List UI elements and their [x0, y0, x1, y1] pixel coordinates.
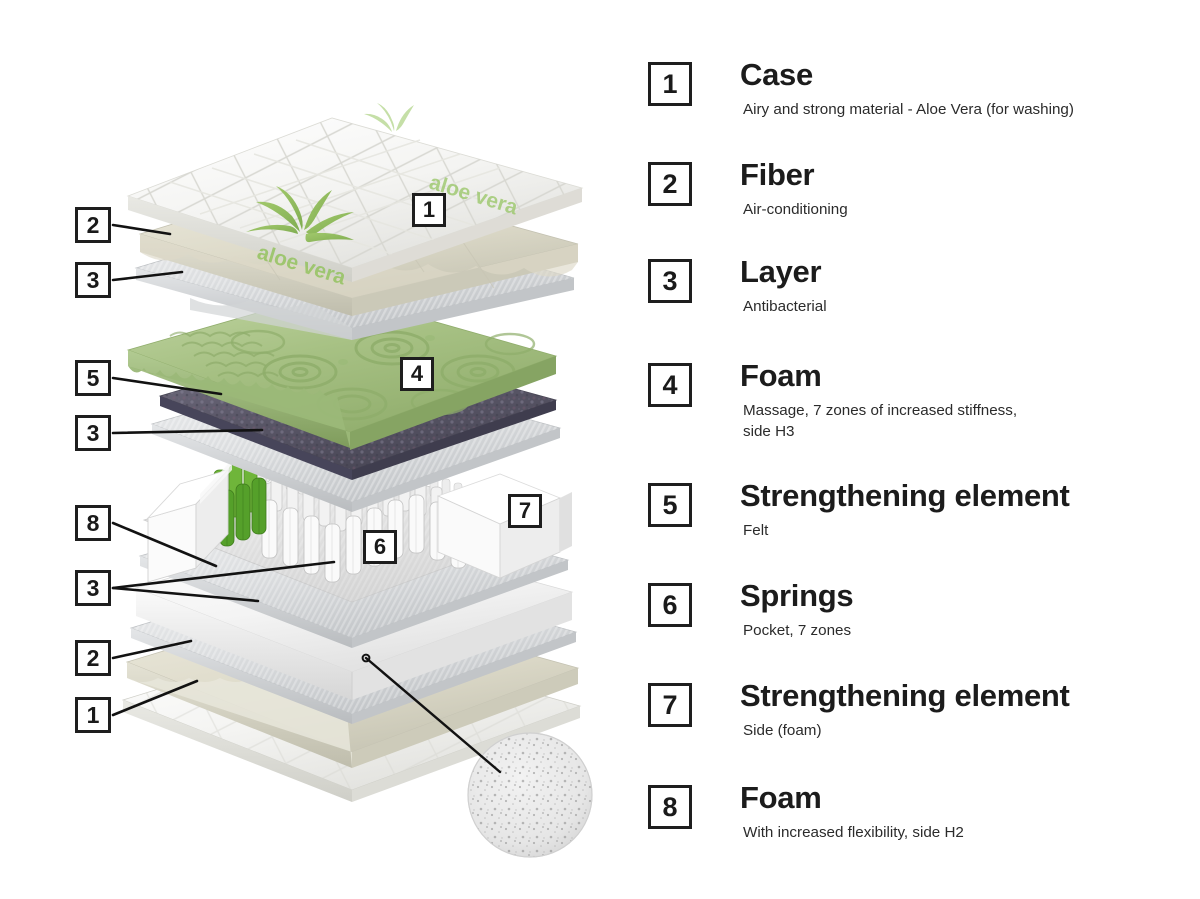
legend-subtitle-6: Pocket, 7 zones [740, 621, 1200, 642]
legend-title-1: Case [740, 58, 1200, 91]
legend-text-6: Springs Pocket, 7 zones [740, 579, 1200, 642]
legend-badge-5: 5 [648, 483, 692, 527]
legend-text-4: Foam Massage, 7 zones of increased stiff… [740, 359, 1200, 443]
callout-badge-8-foam[interactable]: 8 [75, 505, 111, 541]
legend-text-5: Strengthening element Felt [740, 479, 1200, 542]
figure-badge-6-springs[interactable]: 6 [363, 530, 397, 564]
legend-title-4: Foam [740, 359, 1200, 392]
legend-title-3: Layer [740, 255, 1200, 288]
layers-legend: 1 Case Airy and strong material - Aloe V… [648, 0, 1200, 899]
legend-badge-6: 6 [648, 583, 692, 627]
callout-badge-2-fiber-bottom[interactable]: 2 [75, 640, 111, 676]
callout-badge-1-case-bottom[interactable]: 1 [75, 697, 111, 733]
legend-badge-1: 1 [648, 62, 692, 106]
legend-title-8: Foam [740, 781, 1200, 814]
legend-text-7: Strengthening element Side (foam) [740, 679, 1200, 742]
legend-text-8: Foam With increased flexibility, side H2 [740, 781, 1200, 844]
callout-badge-3-layer-low[interactable]: 3 [75, 570, 111, 606]
callout-badge-2-fiber-top[interactable]: 2 [75, 207, 111, 243]
figure-badge-7-side-element[interactable]: 7 [508, 494, 542, 528]
callout-badge-3-layer-top[interactable]: 3 [75, 262, 111, 298]
legend-badge-4: 4 [648, 363, 692, 407]
figure-badge-1-case[interactable]: 1 [412, 193, 446, 227]
legend-subtitle-4: Massage, 7 zones of increased stiffness,… [740, 401, 1200, 442]
legend-title-5: Strengthening element [740, 479, 1200, 512]
legend-subtitle-5: Felt [740, 521, 1200, 542]
legend-subtitle-3: Antibacterial [740, 297, 1200, 318]
figure-badge-4-foam[interactable]: 4 [400, 357, 434, 391]
legend-badge-7: 7 [648, 683, 692, 727]
legend-title-7: Strengthening element [740, 679, 1200, 712]
callout-badge-5-felt[interactable]: 5 [75, 360, 111, 396]
legend-subtitle-1: Airy and strong material - Aloe Vera (fo… [740, 100, 1200, 121]
legend-subtitle-7: Side (foam) [740, 721, 1200, 742]
legend-title-6: Springs [740, 579, 1200, 612]
mattress-exploded-diagram: aloe vera aloe vera [0, 0, 640, 899]
legend-title-2: Fiber [740, 158, 1200, 191]
legend-badge-8: 8 [648, 785, 692, 829]
legend-subtitle-2: Air-conditioning [740, 200, 1200, 221]
legend-badge-2: 2 [648, 162, 692, 206]
legend-subtitle-8: With increased flexibility, side H2 [740, 823, 1200, 844]
legend-badge-3: 3 [648, 259, 692, 303]
legend-text-3: Layer Antibacterial [740, 255, 1200, 318]
legend-text-2: Fiber Air-conditioning [740, 158, 1200, 221]
legend-text-1: Case Airy and strong material - Aloe Ver… [740, 58, 1200, 121]
exploded-mattress-infographic: aloe vera aloe vera [0, 0, 1200, 899]
callout-badge-3-layer-mid[interactable]: 3 [75, 415, 111, 451]
